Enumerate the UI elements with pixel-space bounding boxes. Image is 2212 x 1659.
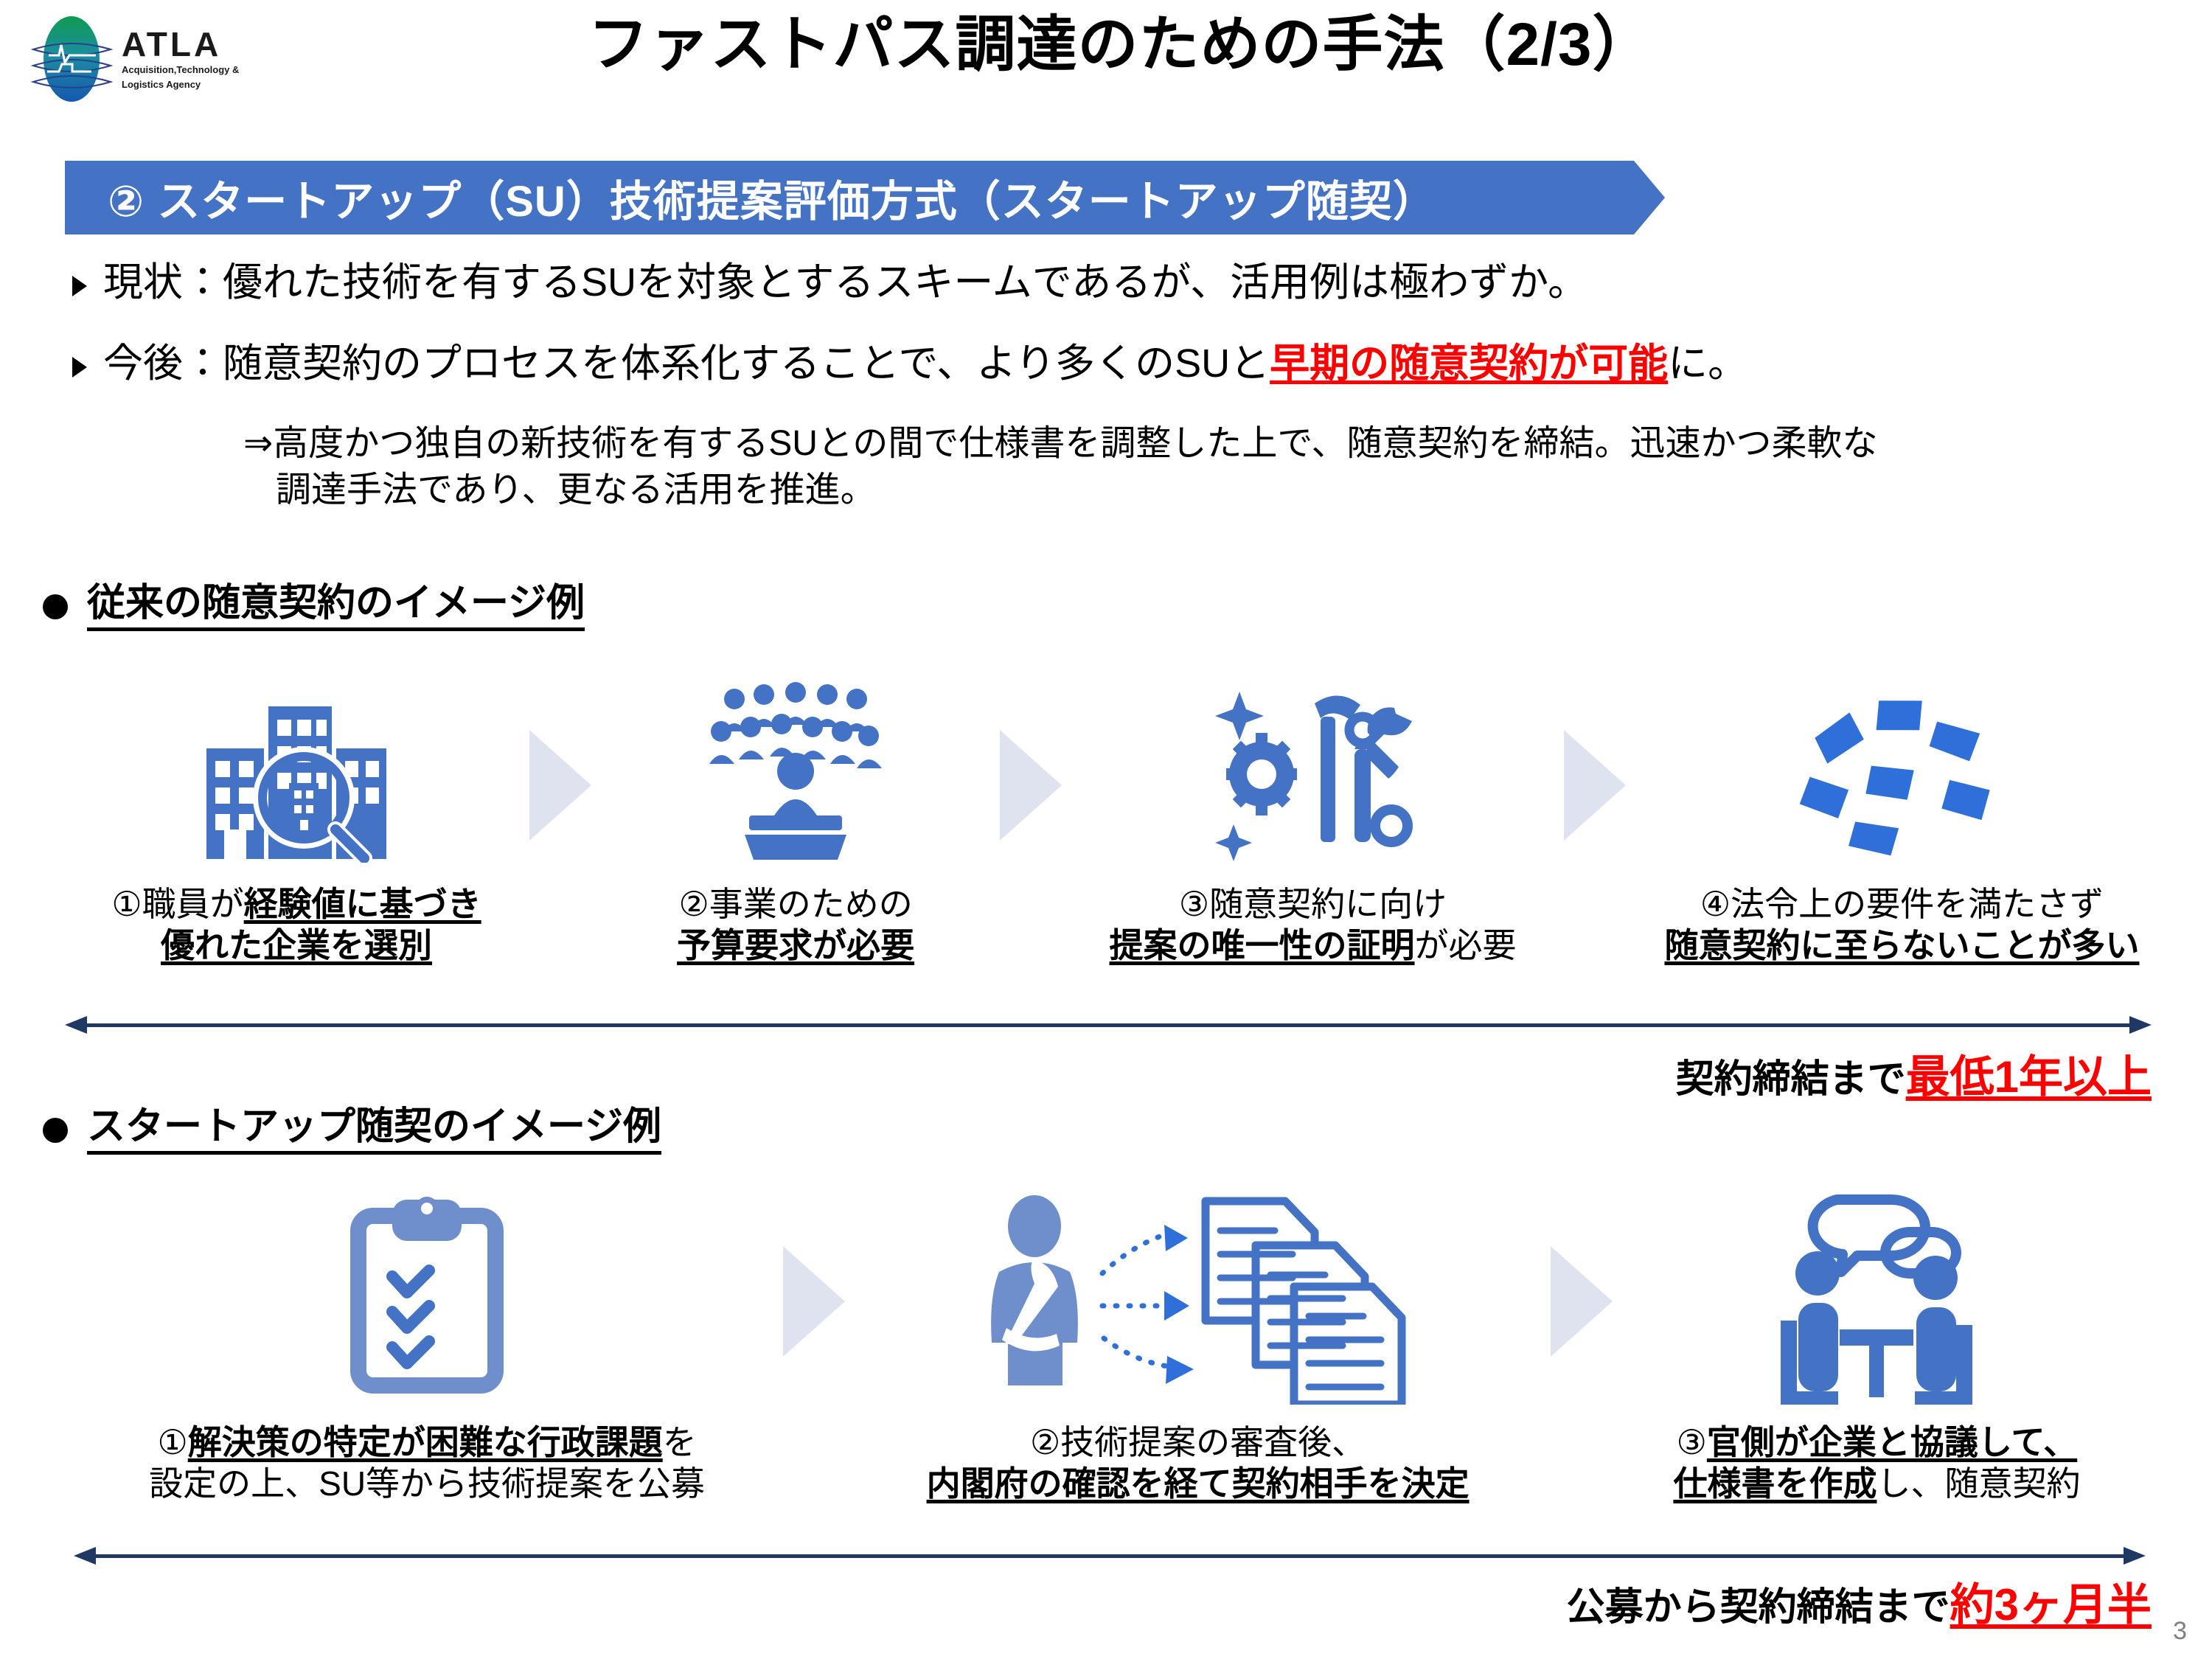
startup-duration-value: 約3ヶ月半 <box>1950 1580 2152 1630</box>
su-flow-step-1: ①解決策の特定が困難な行政課題を 設定の上、SU等から技術提案を公募 <box>74 1172 780 1504</box>
flow-step-3-caption: ③随意契約に向け 提案の唯一性の証明が必要 <box>1110 883 1517 966</box>
chevron-right-icon <box>997 730 1065 841</box>
step3-cap2-plain: が必要 <box>1415 926 1517 964</box>
bullet-future-plan: 今後：随意契約のプロセスを体系化することで、より多くのSUと早期の随意契約が可能… <box>72 341 1747 388</box>
bullet-future-plan-text: 今後：随意契約のプロセスを体系化することで、より多くのSUと早期の随意契約が可能… <box>103 341 1747 388</box>
step3-cap1-plain: ③随意契約に向け <box>1179 885 1447 923</box>
office-buildings-search-icon <box>201 664 392 877</box>
arrow-right-head-icon <box>2124 1547 2146 1565</box>
tools-gear-icon <box>1210 664 1416 877</box>
page-title: ファストパス調達のための手法（2/3） <box>472 13 1770 77</box>
page-number: 3 <box>2173 1617 2187 1646</box>
su1-cap2-plain: 設定の上、SU等から技術提案を公募 <box>149 1464 705 1503</box>
sub-paragraph: ⇒高度かつ独自の新技術を有するSUとの間で仕様書を調整した上で、随意契約を締結。… <box>243 420 2160 514</box>
bullet-future-plain-before: 今後：随意契約のプロセスを体系化することで、より多くのSUと <box>103 341 1270 386</box>
step4-cap1-plain: ④法令上の要件を満たさず <box>1700 885 2104 923</box>
conventional-duration-value: 最低1年以上 <box>1906 1052 2152 1102</box>
chevron-right-icon <box>1548 1246 1615 1357</box>
filled-circle-bullet-icon <box>43 1118 68 1143</box>
conventional-duration-note: 契約締結まで最低1年以上 <box>1676 1041 2152 1105</box>
step1-cap1-plain: ①職員が <box>111 885 243 923</box>
startup-timeline-arrow <box>74 1547 2146 1565</box>
flow-step-4-caption: ④法令上の要件を満たさず 随意契約に至らないことが多い <box>1664 883 2139 966</box>
atla-abbreviation: ATLA <box>122 27 239 61</box>
arrow-shaft <box>93 1554 2126 1558</box>
meeting-discussion-icon <box>1766 1172 1987 1416</box>
atla-fullname-line1: Acquisition,Technology & <box>122 64 239 76</box>
su-flow-step-3: ③官側が企業と協議して、 仕様書を作成し、随意契約 <box>1615 1172 2138 1504</box>
su3-cap2-plain: し、随意契約 <box>1877 1464 2080 1503</box>
flow-step-2-caption: ②事業のための 予算要求が必要 <box>677 883 914 966</box>
su3-cap1-plain: ③ <box>1677 1423 1707 1461</box>
flow-step-3: ③随意契約に向け 提案の唯一性の証明が必要 <box>1065 664 1561 966</box>
step1-cap1-underline: 経験値に基づき <box>244 885 481 923</box>
section-heading-startup: スタートアップ随契のイメージ例 <box>43 1106 661 1155</box>
atla-logo: ATLA Acquisition,Technology & Logistics … <box>29 7 273 111</box>
su2-cap2-underline: 内閣府の確認を経て契約相手を決定 <box>927 1464 1470 1503</box>
audience-presentation-icon <box>703 664 888 877</box>
atla-globe-logo-icon <box>29 11 114 107</box>
section-heading-conventional-label: 従来の随意契約のイメージ例 <box>87 582 585 631</box>
su1-cap1-tail: を <box>663 1423 697 1461</box>
conventional-duration-label: 契約締結まで <box>1676 1058 1906 1101</box>
person-documents-review-icon <box>977 1172 1419 1416</box>
triangle-bullet-icon <box>72 276 87 296</box>
su3-cap2-underline: 仕様書を作成 <box>1673 1464 1877 1503</box>
startup-duration-label: 公募から契約締結まで <box>1567 1586 1950 1629</box>
startup-flow-row: ①解決策の特定が困難な行政課題を 設定の上、SU等から技術提案を公募 <box>74 1172 2138 1504</box>
clipboard-checklist-icon <box>335 1172 519 1416</box>
slide-root: ATLA Acquisition,Technology & Logistics … <box>0 0 2212 1659</box>
chevron-right-icon <box>1561 730 1629 841</box>
bullet-current-status: 現状：優れた技術を有するSUを対象とするスキームであるが、活用例は極わずか。 <box>72 260 1587 307</box>
conventional-flow-row: ①職員が経験値に基づき 優れた企業を選別 <box>66 664 2175 966</box>
startup-duration-note: 公募から契約締結まで約3ヶ月半 <box>1567 1569 2152 1633</box>
sub-paragraph-line2: 調達手法であり、更なる活用を推進。 <box>243 467 2160 513</box>
section-banner-label: ② スタートアップ（SU）技術提案評価方式（スタートアップ随契） <box>108 167 1436 229</box>
flow-step-4: ④法令上の要件を満たさず 随意契約に至らないことが多い <box>1629 664 2175 966</box>
atla-fullname-line2: Logistics Agency <box>122 79 239 91</box>
scattered-papers-icon <box>1795 664 2008 877</box>
flow-step-1: ①職員が経験値に基づき 優れた企業を選別 <box>66 664 526 966</box>
step2-cap1-plain: ②事業のための <box>678 885 912 923</box>
su-flow-step-2: ②技術提案の審査後、 内閣府の確認を経て契約相手を決定 <box>848 1172 1548 1504</box>
section-heading-conventional: 従来の随意契約のイメージ例 <box>43 582 585 631</box>
section-heading-startup-label: スタートアップ随契のイメージ例 <box>87 1106 661 1155</box>
chevron-right-icon <box>526 730 594 841</box>
su1-cap1-plain: ① <box>157 1423 187 1461</box>
step1-cap2-underline: 優れた企業を選別 <box>161 926 432 964</box>
step2-cap2-underline: 予算要求が必要 <box>677 926 914 964</box>
bullet-future-plain-after: に。 <box>1668 341 1747 386</box>
sub-paragraph-line1: ⇒高度かつ独自の新技術を有するSUとの間で仕様書を調整した上で、随意契約を締結。… <box>243 424 1878 463</box>
arrow-shaft <box>84 1023 2132 1027</box>
su-flow-step-3-caption: ③官側が企業と協議して、 仕様書を作成し、随意契約 <box>1673 1422 2080 1504</box>
flow-step-2: ②事業のための 予算要求が必要 <box>594 664 997 966</box>
bullet-future-highlight: 早期の随意契約が可能 <box>1270 341 1668 386</box>
bullet-current-status-text: 現状：優れた技術を有するSUを対象とするスキームであるが、活用例は極わずか。 <box>103 260 1587 307</box>
atla-logo-text: ATLA Acquisition,Technology & Logistics … <box>122 27 239 91</box>
filled-circle-bullet-icon <box>43 594 68 619</box>
section-banner: ② スタートアップ（SU）技術提案評価方式（スタートアップ随契） <box>65 161 1665 234</box>
su2-cap1-plain: ②技術提案の審査後、 <box>1030 1423 1366 1461</box>
su3-cap1-underline: 官側が企業と協議して、 <box>1707 1423 2077 1461</box>
su-flow-step-2-caption: ②技術提案の審査後、 内閣府の確認を経て契約相手を決定 <box>927 1422 1470 1504</box>
triangle-bullet-icon <box>72 357 87 378</box>
chevron-right-icon <box>780 1246 848 1357</box>
su1-cap1-underline: 解決策の特定が困難な行政課題 <box>188 1423 663 1461</box>
su-flow-step-1-caption: ①解決策の特定が困難な行政課題を 設定の上、SU等から技術提案を公募 <box>149 1422 705 1504</box>
arrow-right-head-icon <box>2129 1016 2152 1034</box>
conventional-timeline-arrow <box>65 1016 2152 1034</box>
step4-cap2-underline: 随意契約に至らないことが多い <box>1664 926 2139 964</box>
step3-cap2-underline: 提案の唯一性の証明 <box>1110 926 1415 964</box>
flow-step-1-caption: ①職員が経験値に基づき 優れた企業を選別 <box>111 883 481 966</box>
